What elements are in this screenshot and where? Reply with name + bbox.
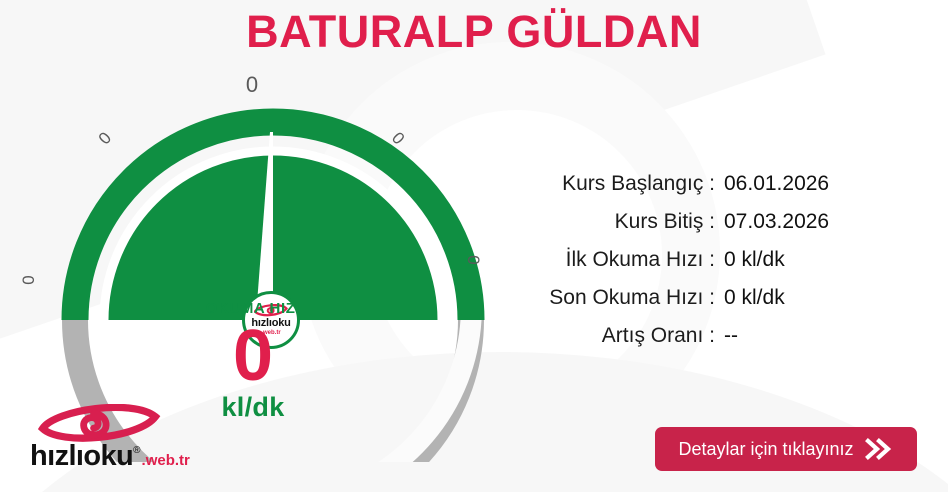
info-label: Artış Oranı :: [500, 324, 724, 348]
info-row-final-speed: Son Okuma Hızı : 0 kl/dk: [500, 286, 900, 319]
details-button[interactable]: Detaylar için tıklayınız: [655, 427, 917, 471]
gauge-inactive-arc-taper: [318, 320, 471, 462]
page-title: BATURALP GÜLDAN: [0, 6, 948, 58]
info-row-course-start: Kurs Başlangıç : 06.01.2026: [500, 172, 900, 205]
reading-speed-result-card: BATURALP GÜLDAN 0 0 0 0: [0, 0, 948, 492]
info-value: 0 kl/dk: [724, 248, 785, 272]
info-value: --: [724, 324, 738, 348]
course-info-panel: Kurs Başlangıç : 06.01.2026 Kurs Bitiş :…: [500, 172, 900, 362]
info-row-growth-rate: Artış Oranı : --: [500, 324, 900, 357]
gauge-tick-label-5: 0: [464, 255, 483, 264]
info-row-initial-speed: İlk Okuma Hızı : 0 kl/dk: [500, 248, 900, 281]
gauge-svg: 0 0 0 0 0: [18, 62, 488, 462]
brand-wordmark-row: hızlıoku ® .web.tr: [30, 442, 200, 471]
info-value: 0 kl/dk: [724, 286, 785, 310]
registered-trademark-icon: ®: [133, 446, 140, 456]
gauge-tick-label-2: 0: [95, 128, 115, 148]
gauge-tick-label-3: 0: [246, 72, 258, 97]
brand-logo: hızlıoku ® .web.tr: [30, 404, 200, 478]
info-value: 07.03.2026: [724, 210, 829, 234]
info-label: Son Okuma Hızı :: [500, 286, 724, 310]
double-chevron-right-icon: [864, 438, 894, 460]
eye-spiral-icon: [36, 404, 162, 444]
details-button-label: Detaylar için tıklayınız: [678, 439, 853, 460]
info-row-course-end: Kurs Bitiş : 07.03.2026: [500, 210, 900, 243]
info-label: İlk Okuma Hızı :: [500, 248, 724, 272]
info-value: 06.01.2026: [724, 172, 829, 196]
info-label: Kurs Bitiş :: [500, 210, 724, 234]
brand-wordmark: hızlıoku: [30, 442, 133, 471]
reading-speed-gauge: 0 0 0 0 0 hızlıoku .web.tr OKUMA HIZI 0 …: [18, 62, 488, 462]
info-label: Kurs Başlangıç :: [500, 172, 724, 196]
gauge-tick-label-1: 0: [19, 275, 38, 284]
brand-tld: .web.tr: [142, 453, 190, 468]
